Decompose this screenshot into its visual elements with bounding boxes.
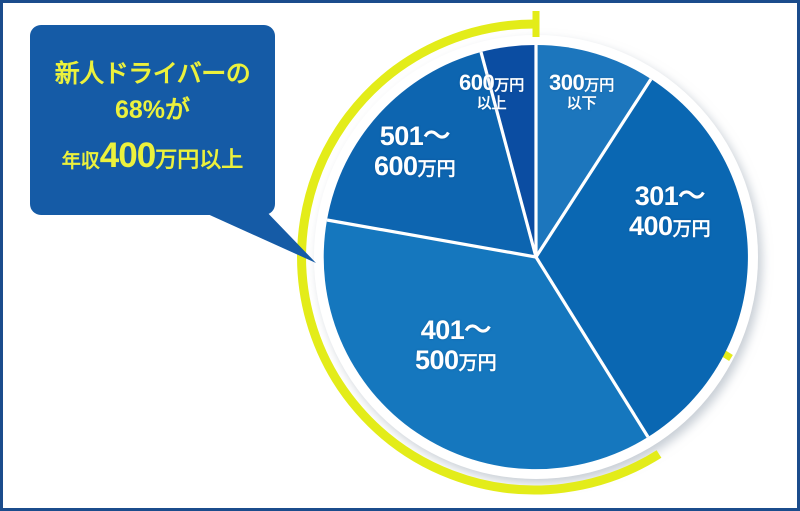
pie-label-501-value: 600 [374,151,418,181]
pie-label-300-sub: 以下 [549,96,614,113]
pie-label-600-unit: 万円 [494,77,524,94]
pie-label-301-400: 301〜 400万円 [629,181,711,241]
callout-body: 新人ドライバーの 68%が 年収400万円以上 [30,25,275,215]
pie-label-401-500: 401〜 500万円 [415,315,497,375]
pie-label-300-value: 300 [549,70,584,95]
callout-tail-icon [190,207,290,265]
callout-line-1: 新人ドライバーの [55,60,251,90]
callout-line-3-suffix: 万円以上 [155,147,243,173]
callout-speech-bubble: 新人ドライバーの 68%が 年収400万円以上 [30,25,275,215]
pie-label-301-range: 301〜 [629,181,711,211]
pie-label-600-or-more: 600万円 以上 [459,71,524,112]
callout-line-2: 68%が [115,96,190,126]
callout-line-3-number: 400 [100,135,155,176]
infographic-canvas: 300万円 以下 600万円 以上 501〜 600万円 301〜 400万円 … [0,0,800,511]
pie-label-301-unit: 万円 [673,219,711,240]
pie-label-600-sub: 以上 [459,96,524,113]
callout-line-3-prefix: 年収 [62,151,100,173]
pie-label-300-main-row: 300万円 [549,71,614,96]
pie-label-501-unit: 万円 [418,159,456,180]
callout-line-3: 年収400万円以上 [62,135,243,176]
pie-label-501-600: 501〜 600万円 [374,121,456,181]
pie-label-301-main-row: 400万円 [629,211,711,241]
pie-label-301-value: 400 [629,211,673,241]
pie-label-401-unit: 万円 [459,353,497,374]
pie-label-501-main-row: 600万円 [374,151,456,181]
pie-label-401-range: 401〜 [415,315,497,345]
pie-label-300-unit: 万円 [584,77,614,94]
pie-label-600-value: 600 [459,70,494,95]
pie-label-401-main-row: 500万円 [415,345,497,375]
pie-label-501-range: 501〜 [374,121,456,151]
pie-label-401-value: 500 [415,345,459,375]
pie-label-300-or-less: 300万円 以下 [549,71,614,112]
pie-label-600-main-row: 600万円 [459,71,524,96]
